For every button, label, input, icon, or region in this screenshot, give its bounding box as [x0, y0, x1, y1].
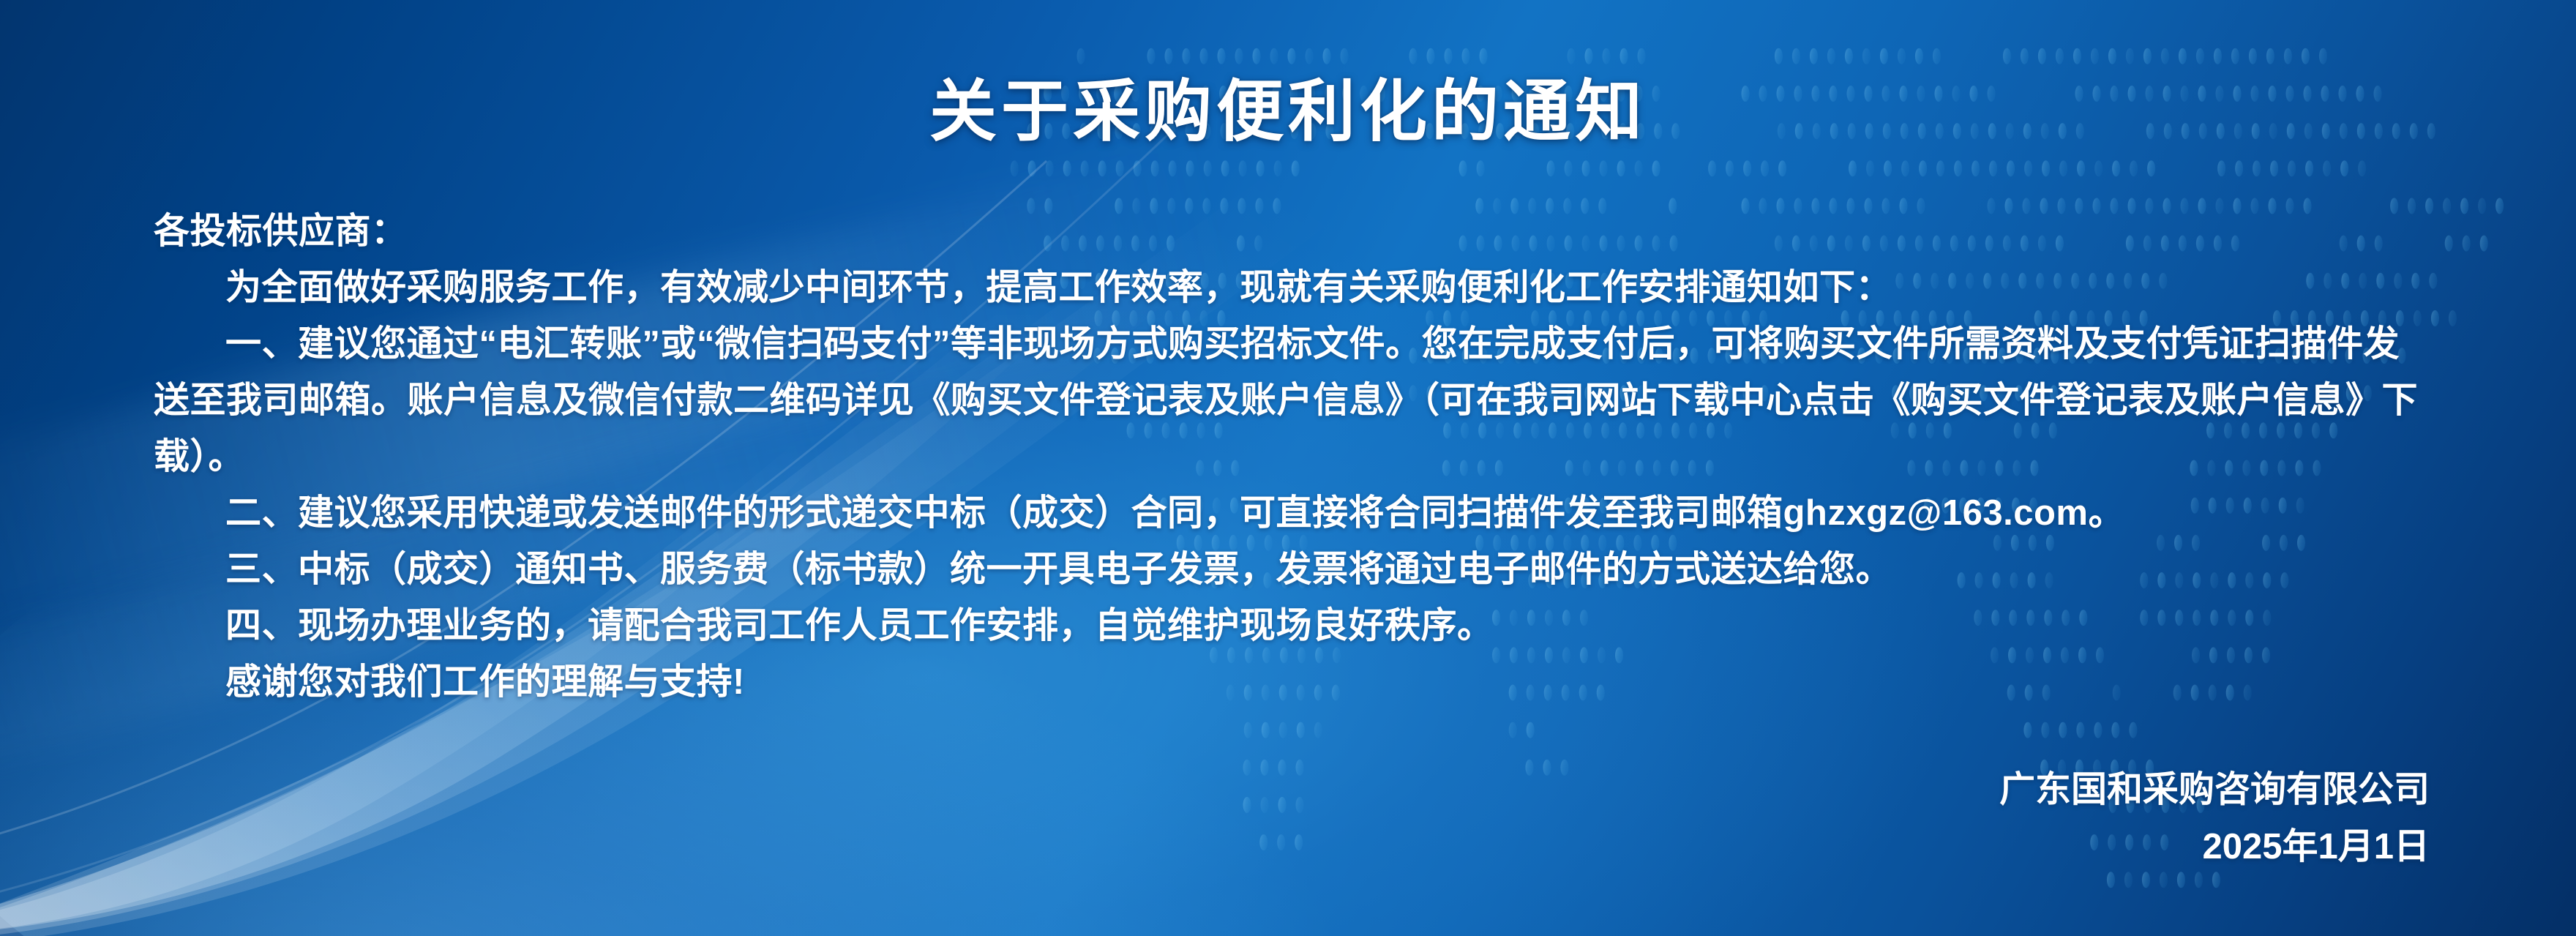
signature-date: 2025年1月1日: [1999, 818, 2430, 875]
closing-line: 感谢您对我们工作的理解与支持!: [154, 654, 2430, 711]
paragraph-1: 为全面做好采购服务工作，有效减少中间环节，提高工作效率，现就有关采购便利化工作安…: [154, 260, 2430, 316]
salutation-line: 各投标供应商：: [154, 203, 2430, 260]
signature-block: 广东国和采购咨询有限公司 2025年1月1日: [1999, 761, 2430, 875]
page-title: 关于采购便利化的通知: [0, 57, 2576, 154]
notice-body: 各投标供应商： 为全面做好采购服务工作，有效减少中间环节，提高工作效率，现就有关…: [154, 203, 2430, 711]
paragraph-5: 四、现场办理业务的，请配合我司工作人员工作安排，自觉维护现场良好秩序。: [154, 598, 2430, 654]
company-name: 广东国和采购咨询有限公司: [1999, 761, 2430, 818]
banner-content: 关于采购便利化的通知 各投标供应商： 为全面做好采购服务工作，有效减少中间环节，…: [0, 0, 2576, 936]
paragraph-3: 二、建议您采用快递或发送邮件的形式递交中标（成交）合同，可直接将合同扫描件发至我…: [154, 485, 2430, 542]
paragraph-4: 三、中标（成交）通知书、服务费（标书款）统一开具电子发票，发票将通过电子邮件的方…: [154, 542, 2430, 598]
paragraph-2: 一、建议您通过“电汇转账”或“微信扫码支付”等非现场方式购买招标文件。您在完成支…: [154, 316, 2430, 485]
notice-banner: 关于采购便利化的通知 各投标供应商： 为全面做好采购服务工作，有效减少中间环节，…: [0, 0, 2576, 936]
